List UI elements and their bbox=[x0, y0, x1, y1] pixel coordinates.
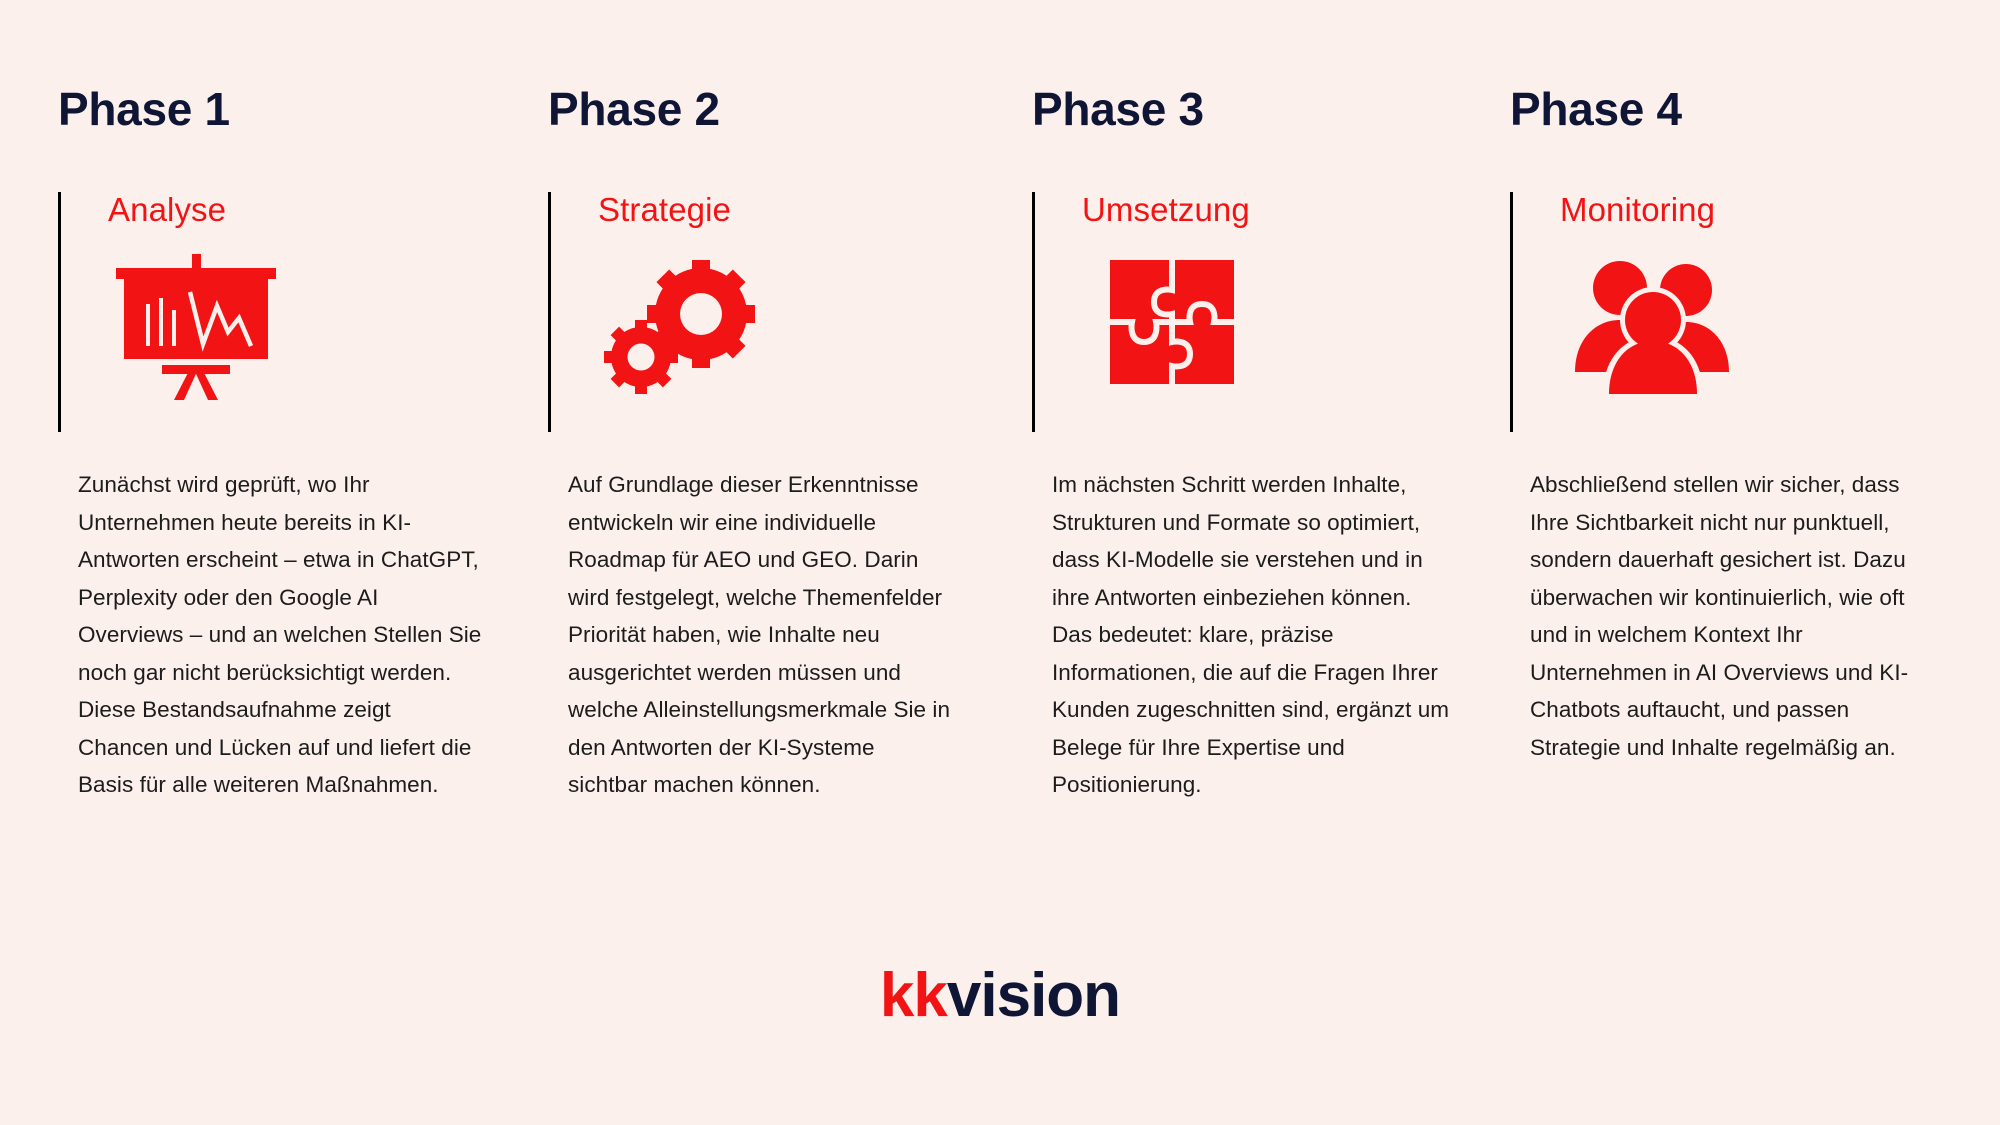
phase-title-3: Phase 3 bbox=[1032, 0, 1510, 132]
logo-vision: vision bbox=[947, 961, 1120, 1030]
phase-body-3: Umsetzung bbox=[1032, 192, 1510, 442]
phase-desc-wrap-3: Im nächsten Schritt werden Inhalte, Stru… bbox=[1032, 442, 1510, 804]
phase-column-4: Phase 4 Monitoring bbox=[1510, 0, 2000, 804]
phase-subtitle-4: Monitoring bbox=[1558, 192, 2000, 228]
phase-subtitle-3: Umsetzung bbox=[1080, 192, 1510, 228]
presentation-chart-icon bbox=[106, 252, 548, 402]
people-group-icon bbox=[1558, 252, 2000, 402]
phase-description-2: Auf Grundlage dieser Erkenntnisse entwic… bbox=[568, 460, 960, 804]
phase-desc-wrap-2: Auf Grundlage dieser Erkenntnisse entwic… bbox=[548, 442, 1032, 804]
phase-body-1: Analyse bbox=[58, 192, 548, 442]
phase-body-4: Monitoring bbox=[1510, 192, 2000, 442]
kkvision-logo: kkvision bbox=[0, 965, 2000, 1027]
phase-divider-1 bbox=[58, 192, 61, 432]
phase-card-1: Analyse bbox=[58, 192, 548, 402]
phase-column-3: Phase 3 Umsetzung bbox=[1032, 0, 1510, 804]
phase-column-2: Phase 2 Strategie bbox=[548, 0, 1032, 804]
phase-divider-3 bbox=[1032, 192, 1035, 432]
phase-subtitle-1: Analyse bbox=[106, 192, 548, 228]
phase-card-4: Monitoring bbox=[1510, 192, 2000, 402]
phase-columns: Phase 1 Analyse bbox=[0, 0, 2000, 804]
gears-icon bbox=[596, 252, 1032, 402]
phase-desc-wrap-1: Zunächst wird geprüft, wo Ihr Unternehme… bbox=[58, 442, 548, 804]
phase-title-2: Phase 2 bbox=[548, 0, 1032, 132]
phase-divider-4 bbox=[1510, 192, 1513, 432]
phase-overview-board: Phase 1 Analyse bbox=[0, 0, 2000, 1125]
phase-divider-2 bbox=[548, 192, 551, 432]
phase-desc-wrap-4: Abschließend stellen wir sicher, dass Ih… bbox=[1510, 442, 2000, 766]
phase-body-2: Strategie bbox=[548, 192, 1032, 442]
phase-description-1: Zunächst wird geprüft, wo Ihr Unternehme… bbox=[78, 460, 482, 804]
phase-title-4: Phase 4 bbox=[1510, 0, 2000, 132]
phase-card-3: Umsetzung bbox=[1032, 192, 1510, 402]
phase-subtitle-2: Strategie bbox=[596, 192, 1032, 228]
phase-description-4: Abschließend stellen wir sicher, dass Ih… bbox=[1530, 460, 1936, 766]
phase-description-3: Im nächsten Schritt werden Inhalte, Stru… bbox=[1052, 460, 1452, 804]
logo-kk: kk bbox=[880, 961, 947, 1030]
phase-title-1: Phase 1 bbox=[58, 0, 548, 132]
phase-card-2: Strategie bbox=[548, 192, 1032, 402]
puzzle-icon bbox=[1080, 252, 1510, 402]
phase-column-1: Phase 1 Analyse bbox=[58, 0, 548, 804]
